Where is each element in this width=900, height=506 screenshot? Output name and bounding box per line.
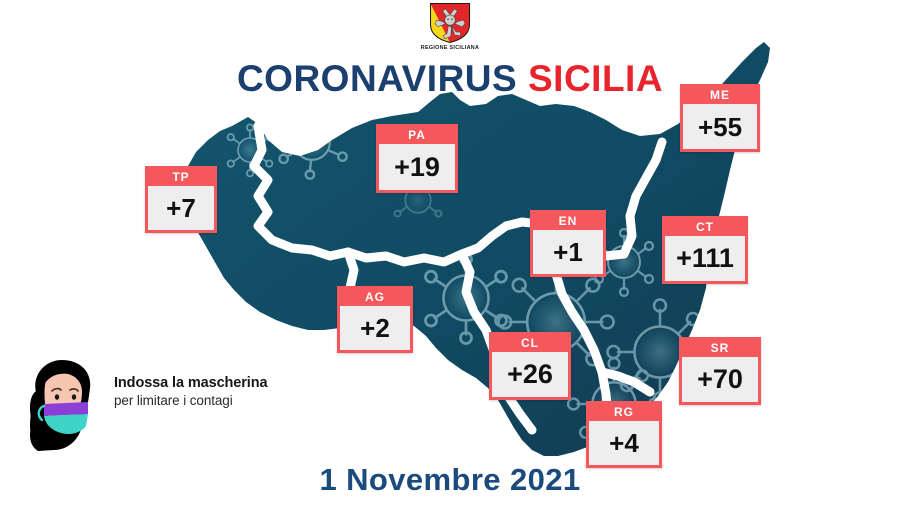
province-value-ct: +111 (665, 236, 745, 281)
province-code-pa: PA (379, 127, 455, 144)
province-value-tp: +7 (148, 186, 214, 230)
province-code-ag: AG (340, 289, 410, 306)
province-code-cl: CL (492, 335, 568, 352)
province-box-palermo[interactable]: PA +19 (376, 124, 458, 193)
page-title: CORONAVIRUS SICILIA (0, 60, 900, 97)
province-value-rg: +4 (589, 421, 659, 465)
province-code-ct: CT (665, 219, 745, 236)
province-code-en: EN (533, 213, 603, 230)
province-code-sr: SR (682, 340, 758, 357)
province-box-ragusa[interactable]: RG +4 (586, 401, 662, 468)
trinacria-shield-icon (427, 2, 473, 44)
title-sicilia: SICILIA (528, 58, 663, 99)
province-box-trapani[interactable]: TP +7 (145, 166, 217, 233)
logo-caption: REGIONE SICILIANA (421, 45, 479, 51)
mask-notice-line2: per limitare i contagi (114, 392, 284, 410)
province-code-me: ME (683, 87, 757, 104)
province-box-enna[interactable]: EN +1 (530, 210, 606, 277)
province-value-me: +55 (683, 104, 757, 149)
province-value-sr: +70 (682, 357, 758, 402)
province-box-agrigento[interactable]: AG +2 (337, 286, 413, 353)
title-coronavirus: CORONAVIRUS (237, 58, 517, 99)
regione-siciliana-logo: REGIONE SICILIANA (408, 2, 492, 58)
report-date: 1 Novembre 2021 (0, 462, 900, 498)
province-code-rg: RG (589, 404, 659, 421)
province-box-catania[interactable]: CT +111 (662, 216, 748, 284)
province-value-cl: +26 (492, 352, 568, 397)
mask-notice-line1: Indossa la mascherina (114, 374, 284, 392)
mask-notice-text: Indossa la mascherina per limitare i con… (114, 374, 284, 410)
mask-notice: Indossa la mascherina per limitare i con… (22, 352, 272, 452)
province-value-pa: +19 (379, 144, 455, 190)
woman-wearing-mask-icon (22, 352, 104, 452)
province-value-en: +1 (533, 230, 603, 274)
province-code-tp: TP (148, 169, 214, 186)
province-box-messina[interactable]: ME +55 (680, 84, 760, 152)
province-box-siracusa[interactable]: SR +70 (679, 337, 761, 405)
infographic-canvas: REGIONE SICILIANA CORONAVIRUS SICILIA TP… (0, 0, 900, 506)
province-box-caltanissetta[interactable]: CL +26 (489, 332, 571, 400)
province-value-ag: +2 (340, 306, 410, 350)
